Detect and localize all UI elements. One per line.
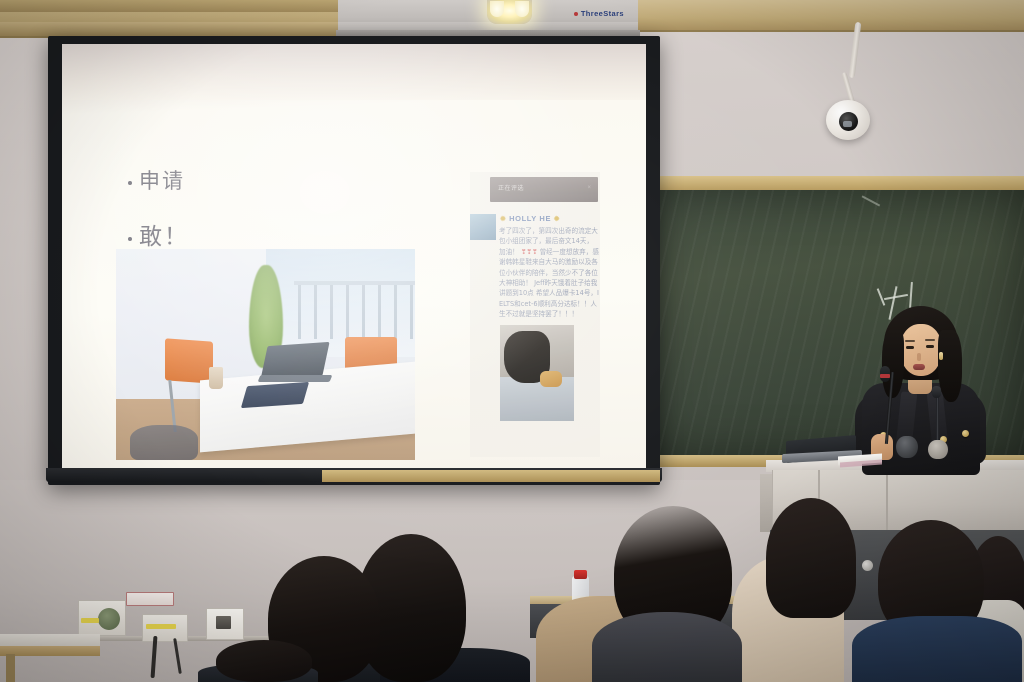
speaker-eyebrow-left [905,340,915,342]
ceiling-lamp [487,0,532,24]
star-icon: ✹ [500,216,506,223]
post-inset-photo [500,325,574,421]
photo-chair-foreground [130,425,198,460]
speaker-hair-left [882,330,904,398]
bullet-dot-icon [128,181,132,185]
slide-bullet-1: 申请 [128,165,185,195]
speaker-mouth [913,364,925,370]
photo-laptop-base [258,375,333,382]
warning-label [81,618,99,623]
chalk-ledge-left [322,470,660,482]
projection-screen-frame: 申请 敢！ [48,36,660,485]
podium-knob [862,560,873,571]
ceiling-beam-right [636,0,1024,32]
slide-bullet-2: 敢！ [128,217,189,251]
warning-label [146,624,176,629]
post-username: ✹ HOLLY HE ✹ [500,214,560,223]
speaker-eye-left [906,346,914,349]
inset-hand [540,371,562,387]
microphone-gooseneck-2 [936,392,939,444]
post-banner-close-icon: × [587,185,591,191]
speaker-hair-right [938,330,962,402]
brand-label: ThreeStars [574,9,624,18]
water-bottle-cap [574,570,587,579]
inset-background [500,377,574,421]
microphone-head-2 [932,386,941,398]
electrical-panel-label-strip [126,592,174,606]
classroom-scene: ThreeStars 申请 敢！ [0,0,1024,682]
student-shoulders [592,612,742,682]
post-banner: 正在评选 × [490,177,598,202]
projection-screen-surface: 申请 敢！ [62,44,646,468]
jacket-button [962,430,969,437]
microphone-base-1 [896,436,918,458]
post-banner-text: 正在评选 [498,183,524,192]
star-icon: ✹ [554,216,560,223]
speaker-earring [939,352,943,360]
student-head [216,640,312,682]
speaker-eye-right [926,345,934,348]
ceiling-beam-right-shadow [0,0,388,12]
speaker-eyebrow-right [925,339,935,341]
post-emoji-hearts: ❣❣❣ [521,248,538,256]
bullet-dot-icon [128,237,132,241]
photo-coffee-cup [209,367,223,389]
camera-lens-icon [839,112,858,131]
podium-seam [886,470,888,532]
photo-chair-left [165,338,213,383]
microphone-band [880,374,890,378]
chalkboard-top-rail [652,176,1024,190]
student-torso [852,616,1022,682]
side-desk-leg [6,654,15,682]
photo-railing [294,285,415,339]
brand-dot-icon [574,12,578,16]
post-avatar [470,214,496,240]
student-head [766,498,856,618]
slide-social-post: 正在评选 × ✹ HOLLY HE ✹ 考了四次了，第四次出奇的流定大包小组团家… [470,172,600,457]
speaker-nose [917,353,921,361]
slide-photo-office [116,249,415,460]
panel-fan-icon [98,608,120,630]
screen-top-shade [62,44,646,100]
microphone-base-2 [928,440,948,459]
network-jack-icon [216,616,231,629]
side-desk-edge [0,646,100,656]
post-body-text: 考了四次了，第四次出奇的流定大包小组团家了，最后奋文14天，加油！ ❣❣❣ 曾经… [499,226,599,320]
